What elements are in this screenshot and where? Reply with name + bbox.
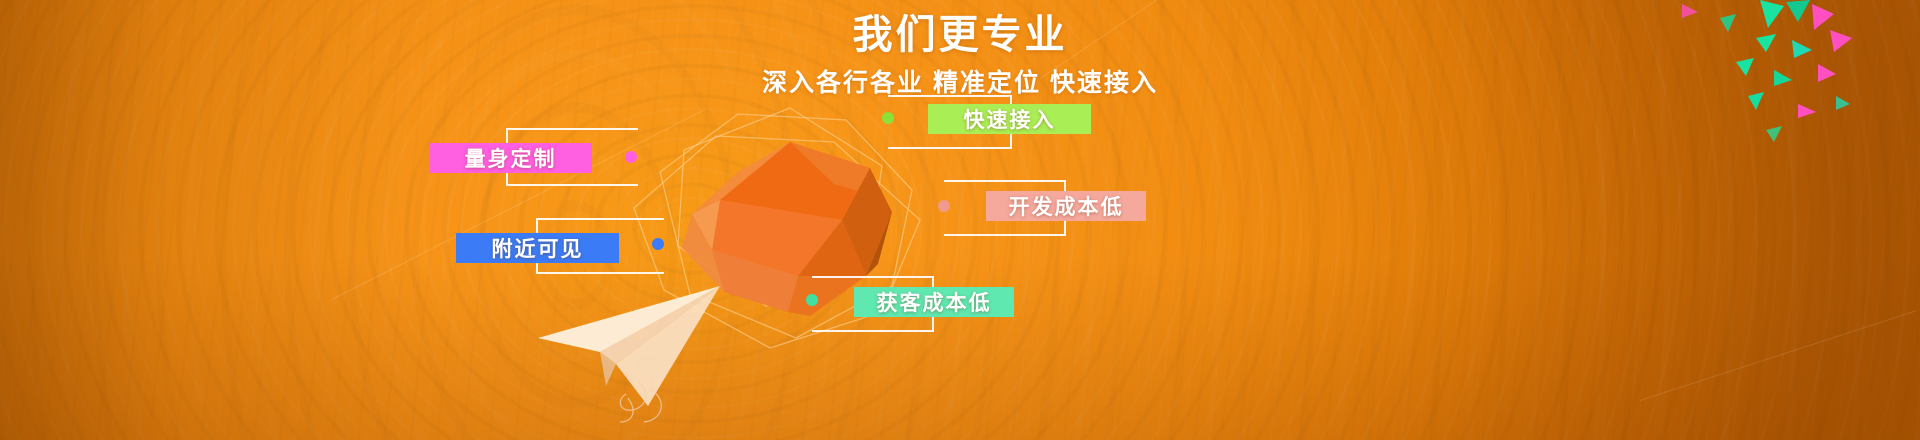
diagonal-streak-far-right: [1640, 310, 1916, 401]
connector-dot-kaifa-chengben-di: [938, 200, 950, 212]
promo-banner: 我们更专业 深入各行各业 精准定位 快速接入: [0, 0, 1920, 440]
badge-label: 获客成本低: [877, 287, 992, 317]
badge-label: 开发成本低: [1009, 191, 1124, 221]
connector-dot-liangshen-dingzhi: [625, 151, 637, 163]
connector-dot-huoke-chengben-di: [806, 294, 818, 306]
connector-dot-fujin-kejian: [652, 238, 664, 250]
badge-label: 快速接入: [964, 104, 1056, 134]
badge-huoke-chengben-di[interactable]: 获客成本低: [854, 287, 1014, 317]
badge-fujin-kejian[interactable]: 附近可见: [456, 233, 619, 263]
confetti-triangles-graphic: [1560, 0, 1920, 190]
badge-liangshen-dingzhi[interactable]: 量身定制: [429, 143, 592, 173]
badge-label: 附近可见: [492, 233, 584, 263]
badge-label: 量身定制: [465, 143, 557, 173]
badge-kuaisu-jieru[interactable]: 快速接入: [928, 104, 1091, 134]
badge-kaifa-chengben-di[interactable]: 开发成本低: [986, 191, 1146, 221]
connector-dot-kuaisu-jieru: [882, 112, 894, 124]
paper-airplane-graphic: [520, 286, 750, 440]
